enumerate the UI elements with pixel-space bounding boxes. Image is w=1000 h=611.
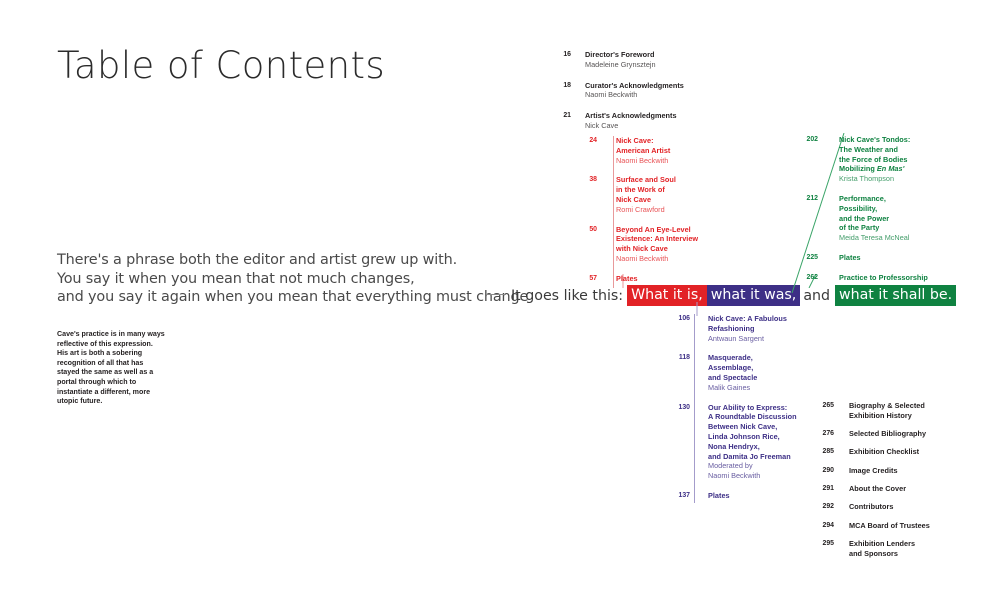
note-paragraph: Cave's practice is in many ways reflecti… — [57, 330, 165, 407]
toc-entry-title[interactable]: MCA Board of Trustees — [849, 521, 997, 531]
toc-entry-title[interactable]: Exhibition Checklist — [849, 447, 997, 457]
toc-entry-body: About the Cover — [849, 484, 997, 494]
toc-page-number: 24 — [549, 136, 597, 165]
toc-entry[interactable]: 276Selected Bibliography — [812, 429, 997, 439]
toc-entry-body: Biography & SelectedExhibition History — [849, 401, 997, 421]
toc-page-number: 212 — [788, 194, 818, 243]
toc-entry-title-italic: En Mas' — [877, 164, 904, 173]
toc-entry-title[interactable]: Selected Bibliography — [849, 429, 997, 439]
toc-entry-title[interactable]: Biography & SelectedExhibition History — [849, 401, 997, 421]
toc-page-number: 292 — [812, 502, 834, 512]
toc-entry[interactable]: 294MCA Board of Trustees — [812, 521, 997, 531]
toc-page-number: 106 — [668, 314, 690, 343]
toc-page-number: 57 — [549, 274, 597, 284]
toc-entry-author: Antwaun Sargent — [708, 334, 868, 344]
toc-page-number: 285 — [812, 447, 834, 457]
toc-entry-title[interactable]: About the Cover — [849, 484, 997, 494]
toc-entry-title[interactable]: Director's Foreword — [585, 50, 759, 60]
toc-entry-author: Romi Crawford — [616, 205, 764, 215]
toc-entry-title[interactable]: Nick Cave's Tondos:The Weather andthe Fo… — [839, 135, 993, 174]
toc-page-number: 225 — [788, 253, 818, 263]
toc-entry[interactable]: 57Plates — [549, 274, 764, 284]
toc-entry-author: Malik Gaines — [708, 383, 868, 393]
toc-entry-body: Beyond An Eye-LevelExistence: An Intervi… — [616, 225, 764, 264]
toc-entry[interactable]: 212Performance,Possibility,and the Power… — [788, 194, 993, 243]
toc-entry-body: Curator's AcknowledgmentsNaomi Beckwith — [585, 81, 759, 101]
intro-line-3: and you say it again when you mean that … — [57, 288, 528, 307]
toc-entry-title[interactable]: Nick Cave:American Artist — [616, 136, 764, 156]
toc-entry-body: Artist's AcknowledgmentsNick Cave — [585, 111, 759, 131]
toc-entry-title[interactable]: Exhibition Lendersand Sponsors — [849, 539, 997, 559]
toc-page-number: 291 — [812, 484, 834, 494]
toc-entry-body: Exhibition Lendersand Sponsors — [849, 539, 997, 559]
toc-entry-author: Madeleine Grynsztejn — [585, 60, 759, 70]
toc-entry[interactable]: 38Surface and Soulin the Work ofNick Cav… — [549, 175, 764, 214]
toc-entry[interactable]: 16Director's ForewordMadeleine Grynsztej… — [549, 50, 759, 70]
toc-entry[interactable]: 106Nick Cave: A FabulousRefashioningAntw… — [668, 314, 868, 343]
toc-entry-title[interactable]: Plates — [616, 274, 764, 284]
toc-entry-body: Practice to Professorship — [839, 273, 993, 283]
toc-entry[interactable]: 18Curator's AcknowledgmentsNaomi Beckwit… — [549, 81, 759, 101]
toc-entry-body: Plates — [616, 274, 764, 284]
toc-entry-title[interactable]: Image Credits — [849, 466, 997, 476]
toc-page: Table of Contents There's a phrase both … — [0, 0, 1000, 611]
tagline-rule — [486, 294, 506, 295]
toc-entry[interactable]: 292Contributors — [812, 502, 997, 512]
toc-page-number: 38 — [549, 175, 597, 214]
toc-entry[interactable]: 262Practice to Professorship — [788, 273, 993, 283]
toc-entry-body: MCA Board of Trustees — [849, 521, 997, 531]
toc-entry-title[interactable]: Practice to Professorship — [839, 273, 993, 283]
toc-entry-author: Nick Cave — [585, 121, 759, 131]
toc-entry-author: Meida Teresa McNeal — [839, 233, 993, 243]
toc-entry-title[interactable]: Beyond An Eye-LevelExistence: An Intervi… — [616, 225, 764, 254]
toc-entry-title[interactable]: Artist's Acknowledgments — [585, 111, 759, 121]
toc-entry-author: Naomi Beckwith — [585, 90, 759, 100]
toc-group-red-essays: 24Nick Cave:American ArtistNaomi Beckwit… — [549, 136, 764, 294]
toc-entry[interactable]: 50Beyond An Eye-LevelExistence: An Inter… — [549, 225, 764, 264]
toc-page-number: 21 — [549, 111, 571, 131]
toc-entry[interactable]: 225Plates — [788, 253, 993, 263]
toc-entry[interactable]: 290Image Credits — [812, 466, 997, 476]
toc-entry-body: Exhibition Checklist — [849, 447, 997, 457]
toc-entry[interactable]: 291About the Cover — [812, 484, 997, 494]
toc-entry-body: Surface and Soulin the Work ofNick CaveR… — [616, 175, 764, 214]
toc-page-number: 294 — [812, 521, 834, 531]
toc-page-number: 130 — [668, 403, 690, 481]
toc-page-number: 18 — [549, 81, 571, 101]
toc-entry-body: Plates — [839, 253, 993, 263]
toc-entry-title[interactable]: Plates — [839, 253, 993, 263]
toc-entry-title[interactable]: Nick Cave: A FabulousRefashioning — [708, 314, 868, 334]
toc-entry-body: Masquerade,Assemblage,and SpectacleMalik… — [708, 353, 868, 392]
toc-entry-body: Nick Cave:American ArtistNaomi Beckwith — [616, 136, 764, 165]
toc-page-number: 276 — [812, 429, 834, 439]
toc-entry[interactable]: 265Biography & SelectedExhibition Histor… — [812, 401, 997, 421]
toc-entry-body: Nick Cave: A FabulousRefashioningAntwaun… — [708, 314, 868, 343]
toc-entry-body: Contributors — [849, 502, 997, 512]
toc-entry-title[interactable]: Curator's Acknowledgments — [585, 81, 759, 91]
toc-entry-title[interactable]: Contributors — [849, 502, 997, 512]
toc-page-number: 50 — [549, 225, 597, 264]
toc-page-number: 290 — [812, 466, 834, 476]
toc-entry-body: Performance,Possibility,and the Powerof … — [839, 194, 993, 243]
toc-page-number: 202 — [788, 135, 818, 184]
toc-page-number: 262 — [788, 273, 818, 283]
toc-entry-author: Naomi Beckwith — [616, 156, 764, 166]
toc-entry-title[interactable]: Surface and Soulin the Work ofNick Cave — [616, 175, 764, 204]
toc-group-green-essays: 202Nick Cave's Tondos:The Weather andthe… — [788, 135, 993, 293]
toc-group-front-matter: 16Director's ForewordMadeleine Grynsztej… — [549, 50, 759, 142]
page-title: Table of Contents — [57, 44, 385, 87]
toc-entry-title[interactable]: Masquerade,Assemblage,and Spectacle — [708, 353, 868, 382]
toc-page-number: 137 — [668, 491, 690, 501]
toc-entry-body: Director's ForewordMadeleine Grynsztejn — [585, 50, 759, 70]
toc-page-number: 118 — [668, 353, 690, 392]
toc-page-number: 295 — [812, 539, 834, 559]
toc-entry-author: Naomi Beckwith — [616, 254, 764, 264]
toc-entry-body: Selected Bibliography — [849, 429, 997, 439]
toc-entry[interactable]: 21Artist's AcknowledgmentsNick Cave — [549, 111, 759, 131]
toc-entry-body: Image Credits — [849, 466, 997, 476]
toc-entry[interactable]: 295Exhibition Lendersand Sponsors — [812, 539, 997, 559]
intro-phrase: There's a phrase both the editor and art… — [57, 251, 528, 307]
toc-entry[interactable]: 202Nick Cave's Tondos:The Weather andthe… — [788, 135, 993, 184]
intro-line-1: There's a phrase both the editor and art… — [57, 251, 528, 270]
toc-entry[interactable]: 285Exhibition Checklist — [812, 447, 997, 457]
toc-page-number: 16 — [549, 50, 571, 70]
toc-entry[interactable]: 24Nick Cave:American ArtistNaomi Beckwit… — [549, 136, 764, 165]
toc-entry-body: Nick Cave's Tondos:The Weather andthe Fo… — [839, 135, 993, 184]
toc-group-back-matter: 265Biography & SelectedExhibition Histor… — [812, 401, 997, 567]
toc-page-number: 265 — [812, 401, 834, 421]
intro-line-2: You say it when you mean that not much c… — [57, 270, 528, 289]
toc-entry-author: Krista Thompson — [839, 174, 993, 184]
toc-entry-title[interactable]: Performance,Possibility,and the Powerof … — [839, 194, 993, 233]
toc-entry[interactable]: 118Masquerade,Assemblage,and SpectacleMa… — [668, 353, 868, 392]
